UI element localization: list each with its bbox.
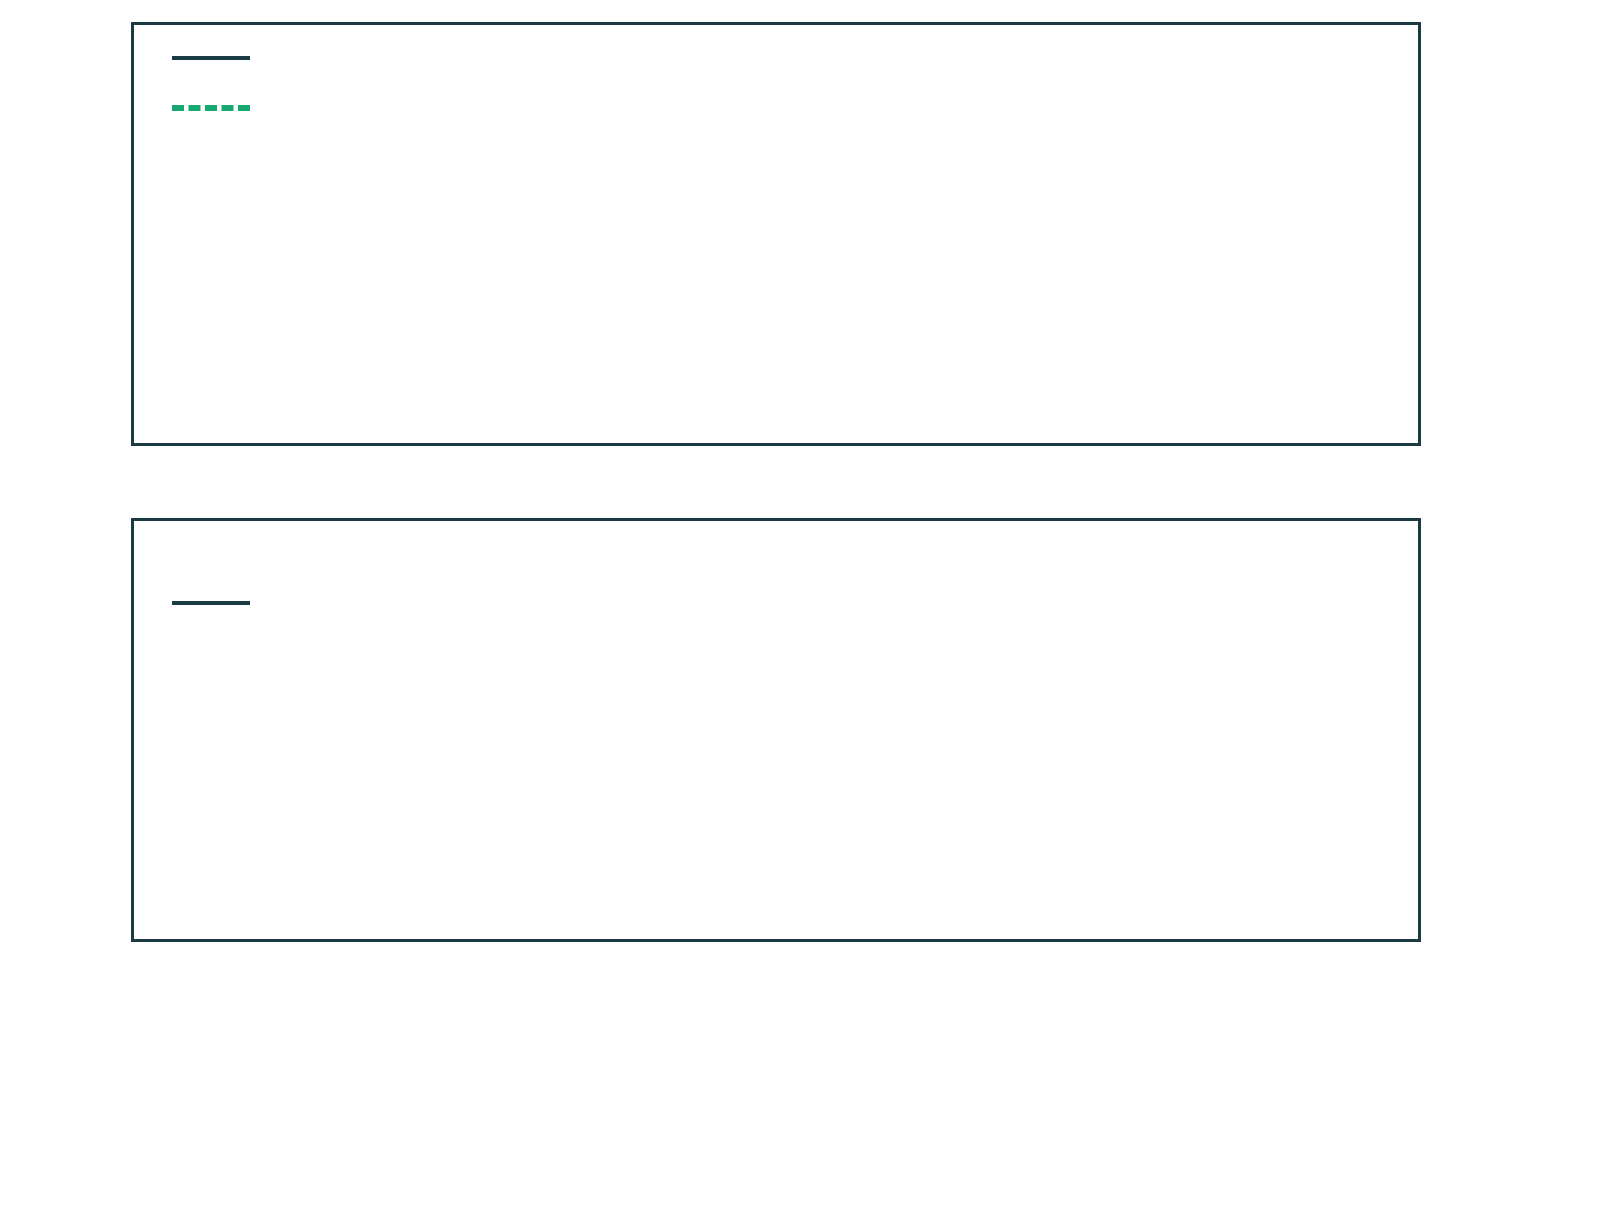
price-index-panel [131, 22, 1421, 446]
price-index-plot-area [134, 25, 1418, 443]
correlation-plot-area [134, 521, 1418, 939]
chart-figure [0, 0, 1600, 1219]
legend-item-value[interactable] [172, 105, 272, 111]
legend-item-rolling-correlation[interactable] [172, 601, 272, 605]
correlation-panel [131, 518, 1421, 942]
legend-swatch-solid-line-icon [172, 56, 250, 60]
legend-item-quality[interactable] [172, 56, 272, 60]
legend-swatch-dashed-line-icon [172, 105, 250, 111]
legend-swatch-solid-line-icon [172, 601, 250, 605]
